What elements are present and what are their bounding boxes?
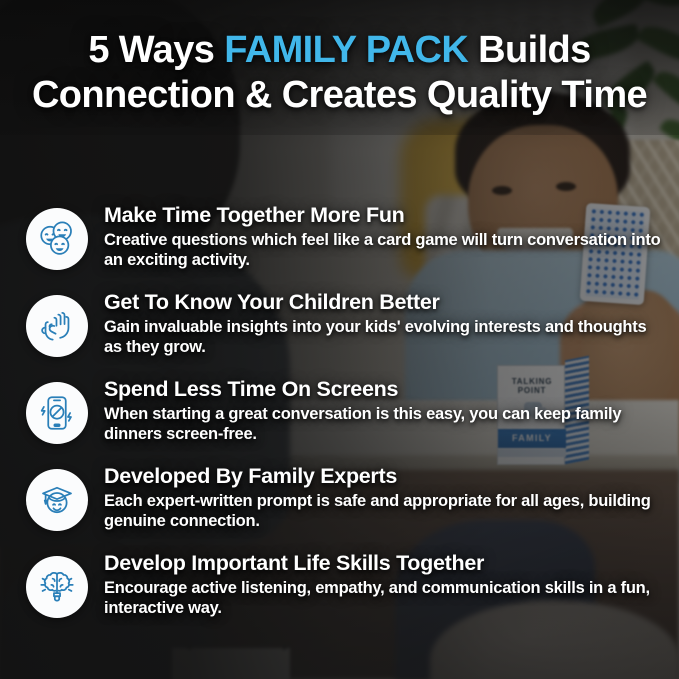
feature-title: Developed By Family Experts: [104, 463, 666, 489]
feature-title: Develop Important Life Skills Together: [104, 550, 666, 576]
feature-description: When starting a great conversation is th…: [104, 404, 666, 444]
feature-item: Make Time Together More Fun Creative que…: [26, 200, 666, 278]
feature-list: Make Time Together More Fun Creative que…: [26, 200, 666, 635]
brain-lightbulb-icon: [26, 556, 88, 618]
phone-no-screen-icon: [26, 382, 88, 444]
feature-text: Get To Know Your Children Better Gain in…: [104, 287, 666, 357]
feature-item: Spend Less Time On Screens When starting…: [26, 374, 666, 452]
feature-description: Gain invaluable insights into your kids'…: [104, 317, 666, 357]
feature-description: Creative questions which feel like a car…: [104, 230, 666, 270]
feature-item: Get To Know Your Children Better Gain in…: [26, 287, 666, 365]
feature-item: Develop Important Life Skills Together E…: [26, 548, 666, 626]
headline-accent: FAMILY PACK: [224, 29, 468, 71]
headline-part2: Builds: [468, 29, 590, 71]
feature-text: Spend Less Time On Screens When starting…: [104, 374, 666, 444]
feature-title: Spend Less Time On Screens: [104, 376, 666, 402]
feature-text: Make Time Together More Fun Creative que…: [104, 200, 666, 270]
feature-item: Developed By Family Experts Each expert-…: [26, 461, 666, 539]
feature-text: Developed By Family Experts Each expert-…: [104, 461, 666, 531]
feature-title: Get To Know Your Children Better: [104, 289, 666, 315]
feature-description: Each expert-written prompt is safe and a…: [104, 491, 666, 531]
headline-part1: 5 Ways: [88, 29, 224, 71]
feature-description: Encourage active listening, empathy, and…: [104, 578, 666, 618]
feature-title: Make Time Together More Fun: [104, 202, 666, 228]
graduate-face-icon: [26, 469, 88, 531]
page-title: 5 Ways FAMILY PACK Builds Connection & C…: [0, 28, 679, 118]
clasped-hands-icon: [26, 295, 88, 357]
headline-line2: Connection & Creates Quality Time: [14, 73, 665, 118]
feature-text: Develop Important Life Skills Together E…: [104, 548, 666, 618]
three-smiley-faces-icon: [26, 208, 88, 270]
